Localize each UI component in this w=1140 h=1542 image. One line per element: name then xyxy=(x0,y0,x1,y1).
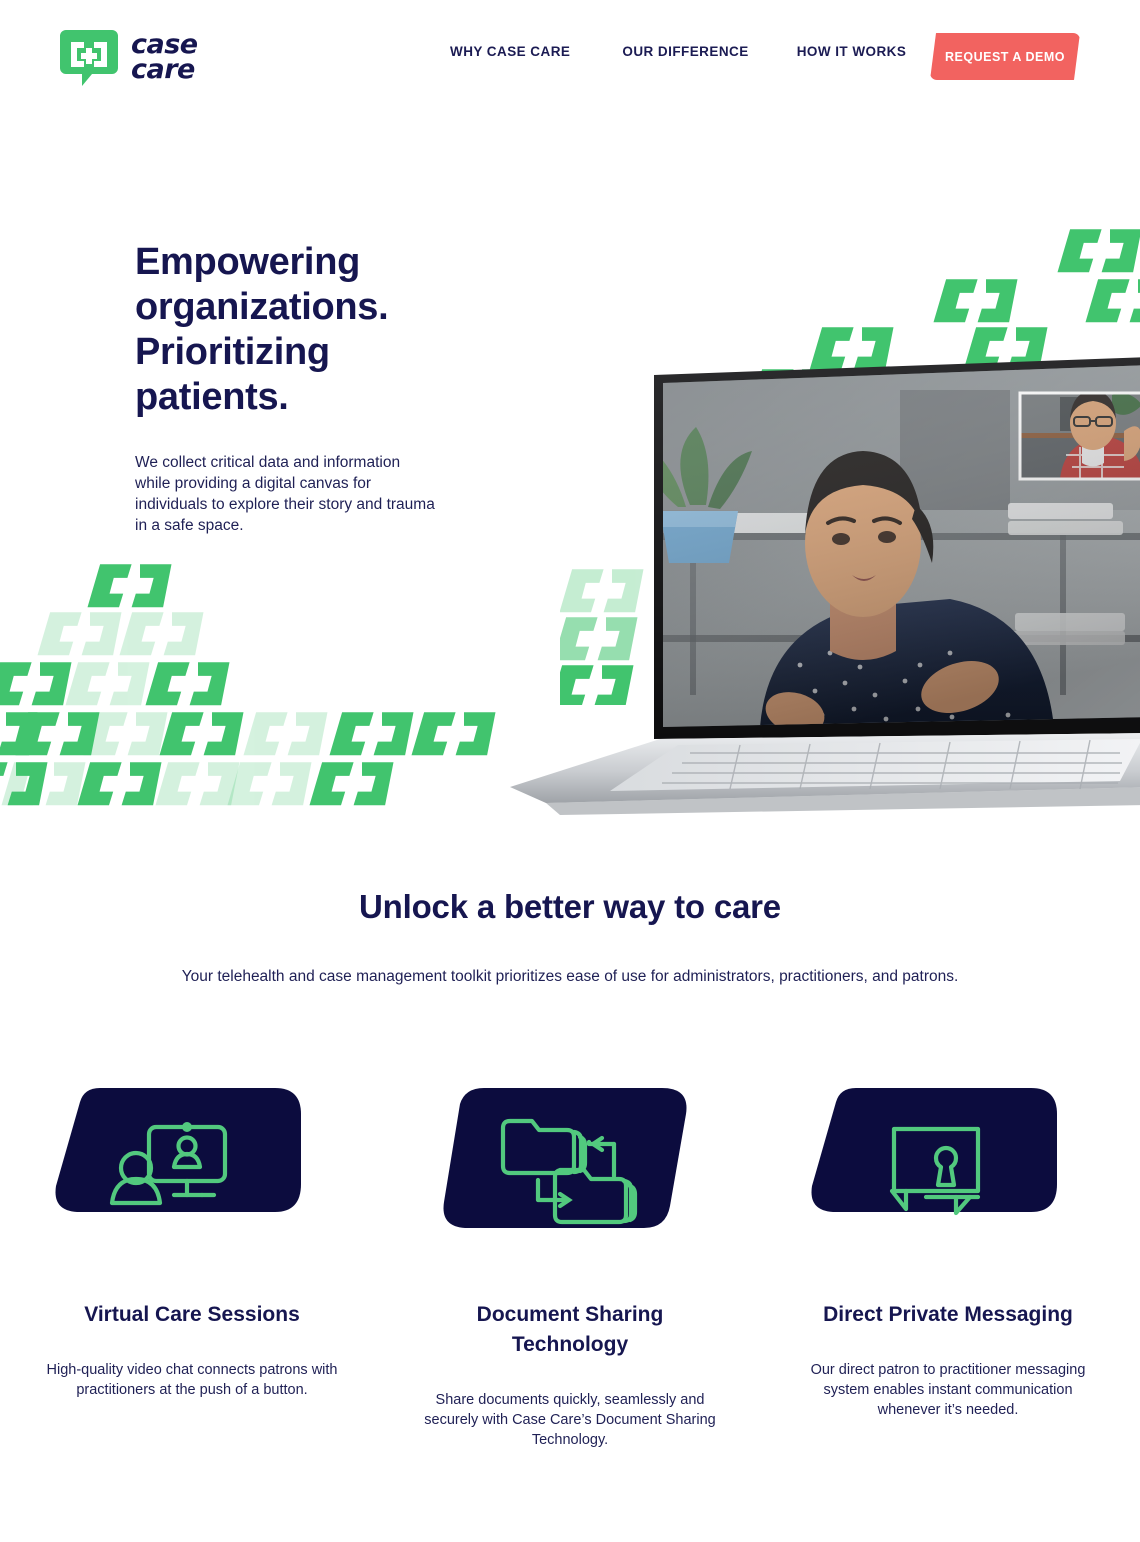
logo[interactable]: case care xyxy=(58,26,198,88)
feature-card-2-shape xyxy=(434,1084,689,1232)
feature-card-virtual-care-sessions[interactable]: Virtual Care Sessions High-quality video… xyxy=(42,1084,342,1450)
features-heading: Unlock a better way to care xyxy=(0,888,1140,926)
hero-title-line-1: Empowering xyxy=(135,241,360,283)
feature-card-document-sharing-technology[interactable]: Document Sharing Technology Share docume… xyxy=(420,1084,720,1450)
feature-card-3-shape xyxy=(806,1084,1061,1232)
nav-link-why-case-care[interactable]: WHY CASE CARE xyxy=(450,44,570,59)
features-subheading: Your telehealth and case management tool… xyxy=(0,966,1140,988)
folder-exchange-icon xyxy=(434,1084,689,1232)
logo-wordmark: case care xyxy=(131,32,198,82)
request-a-demo-button[interactable]: REQUEST A DEMO xyxy=(930,33,1080,80)
hero-laptop-image xyxy=(360,335,1140,815)
hero-title-line-4: patients. xyxy=(135,376,289,418)
secure-message-icon xyxy=(806,1084,1061,1232)
feature-card-direct-private-messaging[interactable]: Direct Private Messaging Our direct patr… xyxy=(798,1084,1098,1450)
video-call-icon xyxy=(50,1084,305,1232)
feature-card-1-title: Virtual Care Sessions xyxy=(42,1300,342,1330)
feature-card-2-title: Document Sharing Technology xyxy=(420,1300,720,1360)
laptop-svg xyxy=(360,335,1140,815)
feature-card-3-description: Our direct patron to practitioner messag… xyxy=(798,1360,1098,1420)
hero-title-line-3: Prioritizing xyxy=(135,331,330,373)
speech-bubble-cross-icon xyxy=(58,26,120,88)
hero-title: Empowering organizations. Prioritizing p… xyxy=(135,240,465,420)
features-section: Unlock a better way to care Your telehea… xyxy=(0,828,1140,1542)
site-header: case care WHY CASE CARE OUR DIFFERENCE H… xyxy=(0,0,1140,112)
hero-copy: Empowering organizations. Prioritizing p… xyxy=(135,240,465,536)
case-care-logo-icon xyxy=(58,26,120,88)
nav-link-how-it-works[interactable]: HOW IT WORKS xyxy=(797,44,907,59)
hero-title-line-2: organizations. xyxy=(135,286,388,328)
feature-card-1-description: High-quality video chat connects patrons… xyxy=(42,1360,342,1400)
feature-card-list: Virtual Care Sessions High-quality video… xyxy=(0,1084,1140,1450)
logo-word-line-2: care xyxy=(131,54,195,85)
main-nav: WHY CASE CARE OUR DIFFERENCE HOW IT WORK… xyxy=(450,44,906,59)
feature-card-1-shape xyxy=(50,1084,305,1232)
feature-card-2-description: Share documents quickly, seamlessly and … xyxy=(420,1390,720,1450)
feature-card-3-title: Direct Private Messaging xyxy=(798,1300,1098,1330)
hero-paragraph: We collect critical data and information… xyxy=(135,452,435,536)
nav-link-our-difference[interactable]: OUR DIFFERENCE xyxy=(622,44,748,59)
hero-section: Empowering organizations. Prioritizing p… xyxy=(0,0,1140,828)
